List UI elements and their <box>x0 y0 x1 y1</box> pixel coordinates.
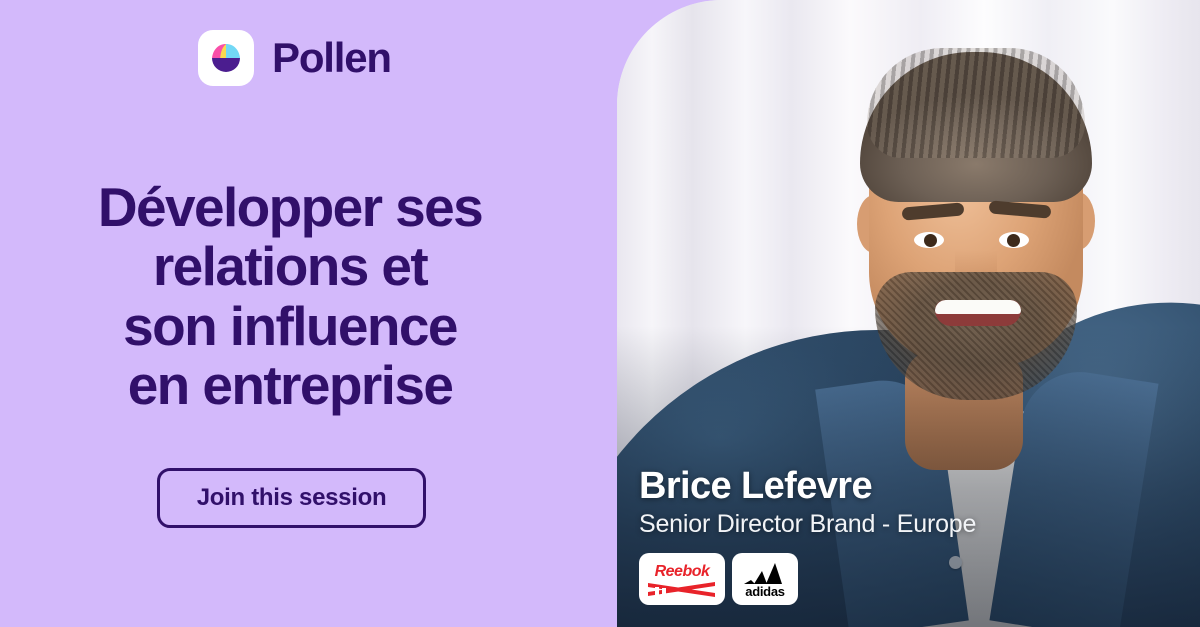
headline-line-4: en entreprise <box>128 354 453 416</box>
brand-wordmark: Pollen <box>272 37 391 79</box>
brand-lockup[interactable]: Pollen <box>198 30 391 86</box>
headline-line-3: son influence <box>123 295 457 357</box>
hair-texture-shape <box>867 48 1085 158</box>
reebok-logo-icon: Reebok <box>639 553 725 605</box>
page-title: Développer ses relations et son influenc… <box>0 178 580 416</box>
svg-text:Reebok: Reebok <box>655 563 711 580</box>
pupil-right-shape <box>1007 234 1020 247</box>
speaker-name: Brice Lefevre <box>639 466 1179 508</box>
left-content-panel: Pollen Développer ses relations et son i… <box>0 0 617 627</box>
company-logo-list: Reebok adidas <box>639 553 1179 605</box>
headline-line-2: relations et <box>153 235 427 297</box>
pollen-tulip-logo-icon <box>198 30 254 86</box>
speaker-photo-panel: Brice Lefevre Senior Director Brand - Eu… <box>617 0 1200 627</box>
join-session-button[interactable]: Join this session <box>157 468 426 528</box>
speaker-title: Senior Director Brand - Europe <box>639 510 1179 539</box>
adidas-logo-icon: adidas <box>732 553 798 605</box>
svg-text:adidas: adidas <box>745 584 784 599</box>
speaker-info-block: Brice Lefevre Senior Director Brand - Eu… <box>639 466 1179 605</box>
mouth-shape <box>935 300 1021 326</box>
pupil-left-shape <box>924 234 937 247</box>
teeth-shape <box>935 300 1021 314</box>
headline-line-1: Développer ses <box>98 176 482 238</box>
